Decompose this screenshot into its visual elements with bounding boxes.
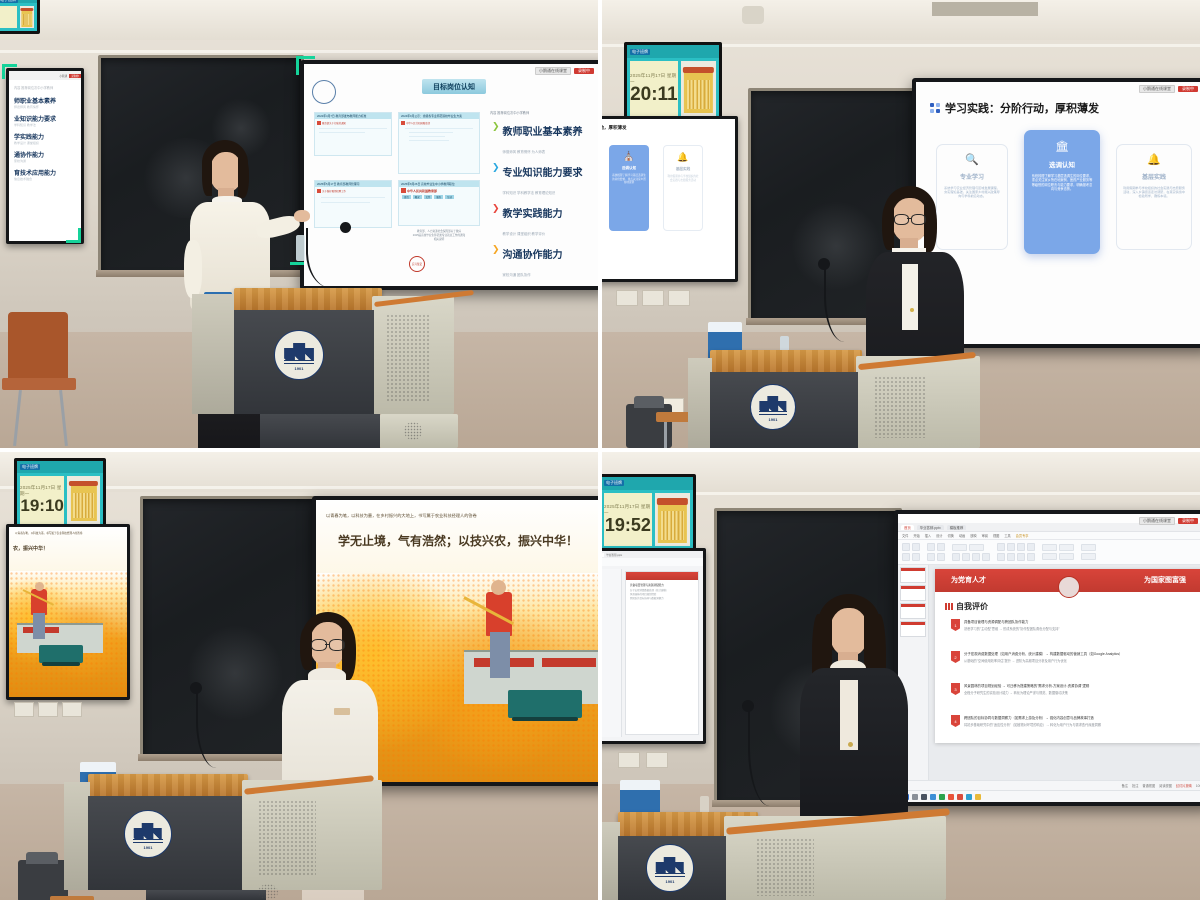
align-left-icon[interactable]	[997, 543, 1005, 551]
menu-slideshow[interactable]: 放映	[970, 533, 976, 538]
item-line-1: 分子宏观消费数据处理（如用户消费分析、统计建模）→ 构建数据驱动的营销工具（如G…	[964, 651, 1192, 656]
trash-bin-lid	[634, 396, 664, 408]
bullet-title: 教学实践能力	[503, 209, 563, 220]
bullet-title: 沟通协作能力	[503, 250, 563, 261]
rec-source-label: 小鹅通在线课堂	[535, 67, 571, 75]
emblem-year: 1901	[125, 845, 171, 850]
practice-card-2-highlighted: 🏛 选调认知 系统梳理了解学习基层选调生的岗位要求，重点关注家乡所在地案例、医药…	[1024, 130, 1100, 254]
clock-display-4[interactable]: 电子班牌 2025年11月17日 星期一 19:52	[602, 474, 696, 552]
item-line-2: 熟悉学习的"主动型"思维 → 形成系统的"协作型团队角色分配与支持"	[964, 626, 1192, 631]
wall-socket	[618, 752, 640, 768]
clock-display-2[interactable]: 电子班牌 2025年11月17日 星期一 20:11	[624, 42, 722, 122]
microphone-head	[742, 700, 754, 712]
rec-source-label: 小鹅通在线课堂	[1139, 517, 1175, 525]
corner-accent	[296, 56, 315, 75]
photo-collage: 电子班牌 小鹅通 录制中	[0, 0, 1200, 900]
menu-insert[interactable]: 插入	[925, 533, 931, 538]
item-line-1: 跨团队的目标协同与数据洞察力（如需求上游及分析）→ 强化内容创意与品牌故事打造	[964, 715, 1192, 720]
glasses-right-lens	[329, 639, 345, 651]
text-direction-icon[interactable]	[1027, 553, 1035, 561]
font-family-select[interactable]	[952, 544, 967, 551]
bullets-icon[interactable]	[1027, 543, 1035, 551]
line-spacing-icon[interactable]	[997, 553, 1005, 561]
doc-card: 2022年4月7日 教育部发布教师能力标准 教育部关于印发的通知	[314, 112, 392, 156]
hand-gesturing	[294, 210, 310, 222]
microphone-head	[340, 222, 351, 233]
tissue-box-top	[80, 762, 116, 772]
hair-side	[924, 204, 937, 252]
section-icon[interactable]	[927, 553, 935, 561]
doc-card: 2025年5月17日 教育部教师管理司 关于做好教师招聘工作	[314, 180, 392, 228]
side-monitor-2[interactable]: 行动，厚积薄发 ⛪ 选调认知 系统梳理了解学习基层选调生的岗位要求，重点关注家乡…	[602, 116, 738, 282]
arrange-button[interactable]	[1042, 553, 1057, 560]
bullet-sub: 教学设计 课堂组织 教学评价	[503, 232, 546, 236]
podium-speaker-grille	[404, 422, 422, 440]
slide-editing-stage[interactable]: 为党育人才 为国家图富强 自我评价 1	[929, 565, 1200, 780]
ribbon-group-editing[interactable]	[1081, 544, 1096, 560]
slide-title: 学习实践：分阶行动，厚积薄发	[945, 100, 1099, 116]
tab-home[interactable]: 首页	[901, 525, 914, 530]
wall-socket	[14, 702, 34, 717]
doc-card: 2024年9月公示：省级各专业师范院校毕业生方案 中华人民共和国教育部	[398, 112, 480, 174]
bullet-item: ❯ 专业知识能力要求 学科知识 学科教学法 教育理论知识	[492, 163, 598, 199]
bullet-sub: 家校沟通 团队协作	[503, 273, 531, 277]
wall-socket	[38, 702, 58, 717]
wall-upper-band	[0, 0, 598, 40]
microphone-head	[818, 258, 830, 270]
status-notes[interactable]: 备注	[1122, 783, 1128, 788]
banner-right-text: 为国家图富强	[1144, 575, 1186, 585]
status-reading-view[interactable]: 阅读视图	[1159, 783, 1172, 788]
layout-icon[interactable]	[937, 543, 945, 551]
doc-card-tag: 中华人民共和国教育部	[407, 189, 437, 193]
head	[830, 608, 868, 656]
menu-animation[interactable]: 动画	[959, 533, 965, 538]
chair-seat	[2, 378, 76, 390]
trash-bin	[18, 860, 68, 900]
bullet-title: 教师职业基本素养	[503, 127, 583, 138]
classroom-scene-4: 电子班牌 2025年11月17日 星期一 19:52 首页 毕业答辩.p	[602, 452, 1200, 900]
banner-left-text: 为党育人才	[951, 575, 986, 585]
evaluation-item: 1 具备项目管理与资源调配与跨团队协作能力 熟悉学习的"主动型"思维 → 形成系…	[951, 619, 1192, 631]
water-bottle	[296, 235, 305, 261]
item-line-2: 将初步基础研究中的"适应性分析"（如植物对环境的响应）→ 转化为用户行为与需求迭…	[964, 722, 1192, 727]
emblem-year: 1901	[751, 417, 795, 422]
menu-view[interactable]: 视图	[993, 533, 999, 538]
slide-self-evaluation[interactable]: 为党育人才 为国家图富强 自我评价 1	[935, 569, 1200, 743]
format-painter-icon[interactable]	[912, 553, 920, 561]
ribbon-group-clipboard[interactable]	[902, 543, 920, 561]
doc-card-tag: 中华人民共和国教育部	[406, 121, 430, 125]
glasses-right-lens	[911, 214, 926, 225]
clock-display-partial: 电子班牌	[0, 0, 40, 34]
bullet-item: ❯ 教师职业基本素养 师德师风 教育情怀 为人师表	[492, 122, 598, 158]
messenger-icon[interactable]	[966, 794, 972, 800]
university-emblem: 1901	[274, 330, 324, 380]
slide-heading-row: 自我评价	[945, 601, 988, 612]
quick-styles-button[interactable]	[1059, 553, 1074, 560]
card-title: 基层实践	[1142, 172, 1166, 181]
hair-side	[238, 158, 249, 198]
chevron-right-icon: ❯	[492, 245, 500, 254]
shirt-placket	[840, 680, 858, 750]
glasses-left-lens	[311, 639, 327, 651]
item-number: 1	[951, 619, 960, 631]
cut-icon[interactable]	[912, 543, 920, 551]
rec-status-label: 录制中	[1178, 86, 1198, 92]
clock-time: 19:52	[605, 516, 651, 534]
columns-icon[interactable]	[1017, 553, 1025, 561]
glasses-left-lens	[894, 214, 909, 225]
folder-icon[interactable]	[975, 794, 981, 800]
classroom-scene-3: 电子班牌 2025年11月17日 星期一 19:10	[0, 452, 598, 900]
doc-card-header: 2025年5月17日 教育部教师管理司	[315, 181, 391, 187]
doc-card-tag: 教育部关于印发的通知	[322, 121, 346, 125]
evaluation-item: 2 分子宏观消费数据处理（如用户消费分析、统计建模）→ 构建数据驱动的营销工具（…	[951, 651, 1192, 663]
trash-bin-lid	[26, 852, 58, 864]
tab-document[interactable]: 毕业答辩.pptx	[917, 525, 944, 530]
bold-icon[interactable]	[952, 553, 960, 561]
wps-menu-bar[interactable]: 文件 开始 插入 设计 切换 动画 放映 审阅 视图 工具 会员专享	[898, 532, 1200, 540]
shirt-placket	[902, 264, 918, 330]
photo-panel-bottom-right: 电子班牌 2025年11月17日 星期一 19:52 首页 毕业答辩.p	[602, 452, 1200, 900]
bullet-title: 专业知识能力要求	[503, 168, 583, 179]
wall-socket	[668, 290, 690, 306]
item-line-2: 全程分子研究生的实验设计能力 → 转化为理论严谨与规范、数据驱动决策	[964, 690, 1192, 695]
wps-icon[interactable]	[957, 794, 963, 800]
menu-transition[interactable]: 切换	[948, 533, 954, 538]
doc-card-header: 2022年4月7日 教育部发布教师能力标准	[315, 113, 391, 119]
tab-templates[interactable]: 模板推荐	[947, 525, 967, 530]
item-number: 3	[951, 683, 960, 695]
ceiling-trim	[0, 50, 598, 53]
align-right-icon[interactable]	[1017, 543, 1025, 551]
blazer-button	[848, 742, 853, 747]
collage-gutter-horizontal	[0, 448, 1200, 452]
status-zoom-level[interactable]: 100%	[1196, 784, 1200, 788]
menu-file[interactable]: 文件	[902, 533, 908, 538]
ceiling-speaker	[742, 6, 764, 24]
status-comments[interactable]: 批注	[1132, 783, 1138, 788]
italic-icon[interactable]	[962, 553, 970, 561]
podium-3: 1901	[62, 774, 392, 900]
ribbon-group-drawing[interactable]	[1042, 544, 1074, 560]
side-monitor-1[interactable]: 小鹅通 录制中 内容 推荐岗位次中小学教师 师职业基本素养 师德师风 教育情怀 …	[6, 68, 84, 244]
item-number: 2	[951, 651, 960, 663]
university-emblem: 1901	[750, 384, 796, 430]
photo-panel-top-right: 电子班牌 2025年11月17日 星期一 20:11 行动，厚积薄发 ⛪	[602, 0, 1200, 448]
ribbon-group-font[interactable]	[952, 544, 990, 561]
copy-icon[interactable]	[902, 553, 910, 561]
emblem-year: 1901	[275, 366, 323, 371]
doc-footnote: 教育部、人力资源社会保障部关于做好2025届高校毕业生师范类专业就业工作的通知相…	[400, 230, 478, 242]
card-text: 利用假期参与学校组织的社会实践与志愿服务活动，深入乡镇街道走访调研，在真实情境中…	[1117, 181, 1191, 199]
item-line-2: 从基础的"空间使用效率评估"提升 → 进阶为高频项目分析及用户行为优化	[964, 658, 1192, 663]
shape-fill-button[interactable]	[1042, 544, 1057, 551]
slide-top-line: 以青春为笔，以科技为墨，在乡村振兴的大地上，书写属于农业科技经理人的答卷	[326, 514, 598, 519]
chevron-right-icon: ❯	[492, 204, 500, 213]
hair-side	[202, 158, 212, 196]
building-icon: 🏛	[1055, 142, 1069, 153]
clock-time: 19:10	[20, 497, 63, 514]
wps-ribbon[interactable]	[898, 540, 1200, 565]
evaluation-item: 3 风景园林的项目规划经验 → 可迁移为搭建策略的"需求分析-方案设计-资源协调…	[951, 683, 1192, 695]
clock-display-3[interactable]: 电子班牌 2025年11月17日 星期一 19:10	[14, 458, 106, 530]
wall-socket	[642, 290, 664, 306]
mirror-bullet-list: 师职业基本素养 师德师风 教育情怀 业知识能力要求 学科知识 教学法 学实践能力…	[14, 96, 77, 181]
new-slide-icon[interactable]	[927, 543, 935, 551]
bell-icon: 🔔	[1147, 155, 1161, 166]
slide-thumbnail[interactable]	[900, 567, 926, 583]
ribbon-group-paragraph[interactable]	[997, 543, 1035, 561]
bullet-list: ❯ 教师职业基本素养 师德师风 教育情怀 为人师表 ❯ 专业知识能力要求 学科知…	[492, 122, 598, 286]
mirror-corn-slide: 以青春为笔，以科技为墨，书写属于农业科技经理人的答卷 农，振兴中华！	[9, 527, 127, 697]
university-seal-icon	[312, 80, 336, 104]
chevron-right-icon: ❯	[492, 163, 500, 172]
evaluation-item: 4 跨团队的目标协同与数据洞察力（如需求上游及分析）→ 强化内容创意与品牌故事打…	[951, 715, 1192, 727]
status-normal-view[interactable]: 普通视图	[1142, 783, 1155, 788]
search-icon: 🔍	[965, 155, 979, 166]
podium-2: 1901	[688, 350, 1008, 448]
bullet-sub: 师德师风 教育情怀 为人师表	[503, 150, 546, 154]
card-title: 选调认知	[1049, 159, 1075, 169]
hair-side	[300, 628, 312, 670]
microphone-head	[190, 682, 202, 694]
rec-status-label: 录制中	[574, 68, 594, 74]
menu-start[interactable]: 开始	[913, 533, 919, 538]
podium-1: 1901	[186, 288, 496, 448]
slide-heading: 自我评价	[956, 601, 988, 612]
recording-bar: 小鹅通在线课堂 录制中	[1139, 84, 1198, 93]
classroom-scene-2: 电子班牌 2025年11月17日 星期一 20:11 行动，厚积薄发 ⛪	[602, 0, 1200, 448]
stamp-icon: 实习鉴定	[409, 256, 425, 272]
rec-source-label: 小鹅通在线课堂	[1139, 85, 1175, 93]
blazer-button	[910, 308, 914, 312]
practice-card-3: 🔔 基层实践 利用假期参与学校组织的社会实践与志愿服务活动，深入乡镇街道走访调研…	[1116, 144, 1192, 250]
rec-status-label: 录制中	[1178, 518, 1198, 524]
slide-column-note: 内容 推荐岗位次中小学教师	[490, 110, 529, 115]
find-button[interactable]	[1081, 544, 1096, 551]
status-slideshow[interactable]: 幻灯片放映	[1176, 783, 1192, 788]
slide-title-row: 学习实践：分阶行动，厚积薄发	[930, 100, 1099, 116]
ceiling-duct	[932, 2, 1038, 16]
align-center-icon[interactable]	[1007, 543, 1015, 551]
slide-title-badge: 目标岗位认知	[422, 79, 486, 94]
bullet-sub: 学科知识 学科教学法 教育理论知识	[503, 191, 556, 195]
font-size-select[interactable]	[969, 544, 984, 551]
corner-accent	[66, 228, 81, 243]
menu-design[interactable]: 设计	[936, 533, 942, 538]
indent-icon[interactable]	[1007, 553, 1015, 561]
item-line-1: 具备项目管理与资源调配与跨团队协作能力	[964, 619, 1192, 624]
podium-4: 1901	[602, 812, 954, 900]
item-line-1: 风景园林的项目规划经验 → 可迁移为搭建策略的"需求分析-方案设计-资源协调"逻…	[964, 683, 1192, 688]
underline-icon[interactable]	[972, 553, 980, 561]
doc-card-tag: 关于做好教师招聘工作	[322, 189, 346, 193]
tissue-box-top	[708, 322, 742, 332]
photo-panel-top-left: 电子班牌 小鹅通 录制中	[0, 0, 598, 448]
tissue-box-top	[620, 780, 660, 790]
university-emblem: 1901	[124, 810, 172, 858]
select-button[interactable]	[1081, 553, 1096, 560]
corner-accent	[2, 64, 17, 79]
slide-target-position: 小鹅通在线课堂 录制中 目标岗位认知 2022年4月7日 教育部发布教师能力标准…	[304, 64, 598, 286]
podium-speaker-grille	[258, 884, 278, 900]
recording-bar: 小鹅通在线课堂 录制中	[1139, 516, 1198, 525]
stool-leg	[664, 422, 667, 448]
menu-member[interactable]: 会员专享	[1016, 533, 1029, 538]
doc-card-header: 2025年8月26日 高校毕业生中小学教师职位	[399, 181, 479, 187]
doc-card: 2025年8月26日 高校毕业生中小学教师职位 中华人民共和国教育部 首页 概况…	[398, 180, 480, 226]
emblem-year: 1901	[647, 879, 693, 884]
university-seal-icon	[1058, 576, 1080, 598]
slide-main-line: 学无止境，气有浩然；以技兴农，振兴中华！	[338, 532, 578, 549]
item-number: 4	[951, 715, 960, 727]
classroom-scene-1: 电子班牌 小鹅通 录制中	[0, 0, 598, 448]
doc-card-header: 2024年9月公示：省级各专业师范院校毕业生方案	[399, 113, 479, 119]
chevron-right-icon: ❯	[492, 122, 500, 131]
wall-socket	[646, 752, 668, 768]
wall-socket	[616, 290, 638, 306]
wall-socket	[62, 702, 82, 717]
bullet-item: ❯ 沟通协作能力 家校沟通 团队协作	[492, 245, 598, 281]
hair-side	[882, 204, 894, 250]
clock-time: 20:11	[630, 85, 678, 104]
reset-icon[interactable]	[937, 553, 945, 561]
paste-icon[interactable]	[902, 543, 910, 551]
sweater-logo	[334, 708, 350, 715]
menu-review[interactable]: 审阅	[982, 533, 988, 538]
photo-panel-bottom-left: 电子班牌 2025年11月17日 星期一 19:10	[0, 452, 598, 900]
side-monitor-4[interactable]: 首页 毕业答辩.pptx 具备项目管理与资源调配能力 分子宏观消费数据处理（统计…	[602, 548, 706, 744]
side-monitor-3[interactable]: 以青春为笔，以科技为墨，书写属于农业科技经理人的答卷 农，振兴中华！	[6, 524, 130, 700]
card-text: 系统梳理了解学习基层选调生的岗位要求，重点关注家乡所在地案例、医药产业服务等等级…	[1024, 169, 1100, 191]
dots-logo-icon	[930, 103, 941, 114]
card-title: 专业学习	[960, 172, 984, 181]
recording-bar: 小鹅通在线课堂 录制中	[535, 66, 594, 75]
university-emblem: 1901	[646, 844, 694, 892]
ribbon-group-slide[interactable]	[927, 543, 945, 561]
bullet-item: ❯ 教学实践能力 教学设计 课堂组织 教学评价	[492, 204, 598, 240]
menu-tools[interactable]: 工具	[1004, 533, 1010, 538]
chair	[8, 312, 68, 384]
shape-outline-button[interactable]	[1059, 544, 1074, 551]
font-color-icon[interactable]	[982, 553, 990, 561]
